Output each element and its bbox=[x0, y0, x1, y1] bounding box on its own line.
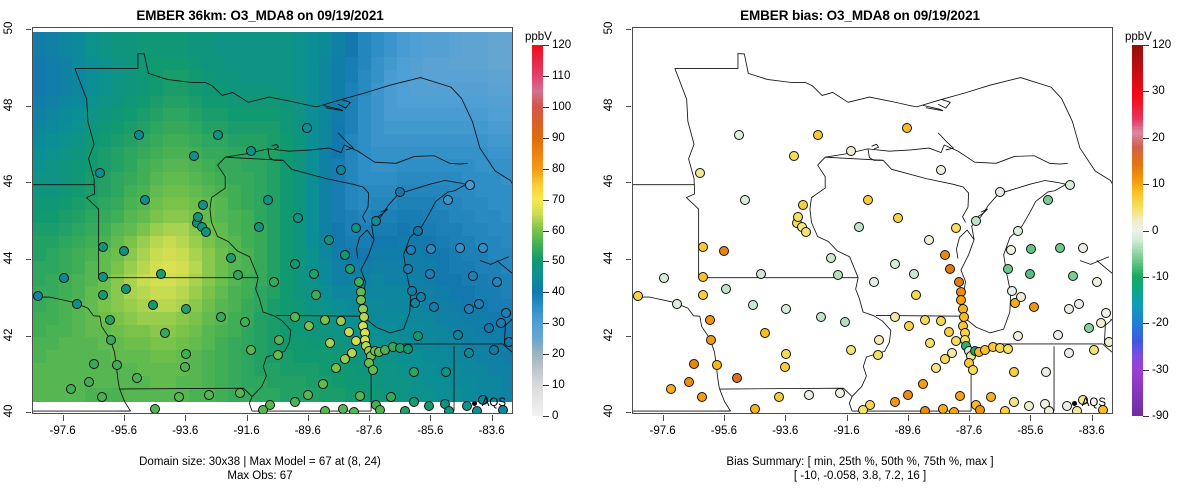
aqs-site-marker bbox=[924, 235, 934, 245]
aqs-site-marker bbox=[492, 277, 502, 287]
aqs-site-marker bbox=[441, 367, 451, 377]
aqs-site-marker bbox=[1053, 330, 1063, 340]
aqs-site-marker bbox=[302, 123, 312, 133]
aqs-site-marker bbox=[106, 335, 116, 345]
aqs-site-marker bbox=[140, 195, 150, 205]
colorbar-tick-label: 20 bbox=[552, 348, 565, 360]
aqs-site-marker bbox=[813, 130, 823, 140]
y-tick-label: 42 bbox=[603, 320, 615, 350]
panel-model-title: EMBER 36km: O3_MDA8 on 09/19/2021 bbox=[0, 8, 520, 23]
y-tick bbox=[26, 182, 31, 183]
x-tick-label: -91.6 bbox=[824, 425, 870, 437]
aqs-site-marker bbox=[1104, 337, 1113, 347]
aqs-site-marker bbox=[793, 212, 803, 222]
colorbar-tick-label: 80 bbox=[552, 163, 565, 175]
aqs-site-marker bbox=[344, 327, 354, 337]
y-tick-label: 48 bbox=[603, 90, 615, 120]
aqs-site-marker bbox=[400, 406, 410, 414]
colorbar-tick bbox=[543, 416, 549, 417]
aqs-site-marker bbox=[986, 392, 996, 402]
aqs-site-marker bbox=[403, 264, 413, 274]
aqs-site-marker bbox=[781, 304, 791, 314]
aqs-site-marker bbox=[213, 130, 223, 140]
aqs-site-marker bbox=[748, 300, 758, 310]
aqs-site-marker bbox=[311, 290, 321, 300]
aqs-site-marker bbox=[1009, 367, 1019, 377]
aqs-site-marker bbox=[846, 345, 856, 355]
colorbar-tick-label: -10 bbox=[1152, 271, 1169, 283]
aqs-site-marker bbox=[1101, 308, 1111, 318]
aqs-site-marker bbox=[409, 367, 419, 377]
aqs-site-marker bbox=[1089, 345, 1099, 355]
colorbar-tick-label: 50 bbox=[552, 255, 565, 267]
aqs-site-marker bbox=[633, 291, 643, 301]
aqs-legend: AQS bbox=[1072, 397, 1106, 409]
x-tick-label: -85.6 bbox=[1007, 425, 1053, 437]
colorbar-tick-label: 10 bbox=[1152, 178, 1165, 190]
aqs-site-marker bbox=[698, 242, 708, 252]
aqs-site-marker bbox=[1024, 401, 1034, 411]
aqs-site-marker bbox=[840, 317, 850, 327]
aqs-site-marker bbox=[1064, 304, 1074, 314]
aqs-site-marker bbox=[816, 312, 826, 322]
aqs-site-marker bbox=[336, 165, 346, 175]
aqs-site-marker bbox=[354, 277, 364, 287]
x-tick bbox=[185, 415, 186, 421]
x-tick-label: -87.6 bbox=[946, 425, 992, 437]
aqs-site-marker bbox=[697, 392, 707, 402]
aqs-site-marker bbox=[443, 195, 453, 205]
aqs-site-marker bbox=[246, 146, 256, 156]
x-tick-label: -97.6 bbox=[40, 425, 86, 437]
aqs-site-marker bbox=[413, 331, 423, 341]
x-tick bbox=[785, 415, 786, 421]
aqs-site-marker bbox=[890, 397, 900, 407]
aqs-site-marker bbox=[944, 327, 954, 337]
y-tick-label: 50 bbox=[603, 13, 615, 43]
colorbar-tick-label: 20 bbox=[1152, 132, 1165, 144]
x-tick-label: -89.6 bbox=[885, 425, 931, 437]
y-tick-label: 44 bbox=[603, 243, 615, 273]
x-tick-label: -95.6 bbox=[701, 425, 747, 437]
x-tick-label: -83.6 bbox=[469, 425, 515, 437]
aqs-site-marker bbox=[719, 246, 729, 256]
aqs-site-marker bbox=[464, 348, 474, 358]
aqs-site-marker bbox=[873, 350, 883, 360]
aqs-site-marker bbox=[918, 379, 928, 389]
aqs-site-marker bbox=[732, 373, 742, 383]
aqs-site-marker bbox=[902, 123, 912, 133]
x-tick-label: -85.6 bbox=[407, 425, 453, 437]
aqs-site-marker bbox=[406, 245, 416, 255]
aqs-site-marker bbox=[949, 407, 959, 414]
y-tick bbox=[626, 412, 631, 413]
aqs-site-marker bbox=[1074, 299, 1084, 309]
aqs-monitor-markers bbox=[33, 28, 512, 413]
aqs-site-marker bbox=[858, 405, 868, 414]
aqs-site-marker bbox=[835, 388, 845, 398]
colorbar-tick-label: 60 bbox=[552, 225, 565, 237]
aqs-site-marker bbox=[465, 180, 475, 190]
y-tick-label: 46 bbox=[603, 166, 615, 196]
aqs-site-marker bbox=[426, 244, 436, 254]
bias-colorbar-unit: ppbV bbox=[1125, 31, 1152, 43]
aqs-site-marker bbox=[66, 384, 76, 394]
x-tick-label: -93.6 bbox=[162, 425, 208, 437]
colorbar-tick-label: 30 bbox=[552, 317, 565, 329]
aqs-site-marker bbox=[951, 336, 961, 346]
panel-bias-caption-line1: Bias Summary: [ min, 25th %, 50th %, 75t… bbox=[600, 455, 1120, 469]
aqs-site-marker bbox=[801, 227, 811, 237]
aqs-site-marker bbox=[863, 195, 873, 205]
colorbar-tick bbox=[543, 261, 549, 262]
aqs-site-marker bbox=[273, 350, 283, 360]
aqs-site-marker bbox=[1068, 271, 1078, 281]
aqs-site-marker bbox=[1029, 302, 1039, 312]
aqs-site-marker bbox=[672, 299, 682, 309]
aqs-site-marker bbox=[59, 273, 69, 283]
aqs-site-marker bbox=[193, 212, 203, 222]
aqs-site-marker bbox=[774, 392, 784, 402]
aqs-site-marker bbox=[240, 317, 250, 327]
x-tick-label: -91.6 bbox=[224, 425, 270, 437]
panel-bias-title: EMBER bias: O3_MDA8 on 09/19/2021 bbox=[600, 8, 1120, 23]
aqs-site-marker bbox=[1013, 226, 1023, 236]
aqs-site-marker bbox=[409, 397, 419, 407]
aqs-site-marker bbox=[705, 315, 715, 325]
aqs-site-marker bbox=[971, 216, 981, 226]
aqs-site-marker bbox=[204, 390, 214, 400]
aqs-site-marker bbox=[290, 312, 300, 322]
y-tick-label: 40 bbox=[603, 396, 615, 426]
panel-model-caption-line1: Domain size: 30x38 | Max Model = 67 at (… bbox=[0, 455, 520, 469]
aqs-site-marker bbox=[712, 360, 722, 370]
aqs-site-marker bbox=[804, 390, 814, 400]
aqs-site-marker bbox=[181, 349, 191, 359]
colorbar-tick bbox=[543, 169, 549, 170]
aqs-site-marker bbox=[1016, 292, 1026, 302]
aqs-site-marker bbox=[1078, 243, 1088, 253]
y-tick-label: 48 bbox=[3, 90, 15, 120]
colorbar-tick bbox=[1143, 91, 1149, 92]
aqs-site-marker bbox=[869, 277, 879, 287]
x-tick bbox=[663, 415, 664, 421]
aqs-site-marker bbox=[375, 405, 385, 414]
y-tick-label: 44 bbox=[3, 243, 15, 273]
aqs-site-marker bbox=[386, 392, 396, 402]
aqs-site-marker bbox=[325, 338, 335, 348]
aqs-site-marker bbox=[233, 270, 243, 280]
aqs-site-marker bbox=[112, 360, 122, 370]
colorbar-segment bbox=[532, 414, 543, 416]
aqs-site-marker bbox=[833, 270, 843, 280]
aqs-site-marker bbox=[504, 337, 513, 347]
colorbar-tick bbox=[543, 354, 549, 355]
aqs-site-marker bbox=[33, 291, 43, 301]
aqs-site-marker bbox=[468, 271, 478, 281]
aqs-site-marker bbox=[474, 299, 484, 309]
panel-model-caption-line2: Max Obs: 67 bbox=[0, 469, 520, 483]
aqs-site-marker bbox=[84, 377, 94, 387]
aqs-site-marker bbox=[789, 151, 799, 161]
aqs-site-marker bbox=[464, 304, 474, 314]
colorbar-tick-label: 30 bbox=[1152, 85, 1165, 97]
y-tick bbox=[26, 106, 31, 107]
aqs-site-marker bbox=[659, 273, 669, 283]
aqs-site-marker bbox=[1003, 264, 1013, 274]
aqs-site-marker bbox=[995, 187, 1005, 197]
y-tick-label: 40 bbox=[3, 396, 15, 426]
panel-bias-plot-area[interactable]: AQS bbox=[632, 27, 1113, 414]
aqs-site-marker bbox=[826, 253, 836, 263]
aqs-site-marker bbox=[798, 200, 808, 210]
colorbar-tick-label: 120 bbox=[552, 39, 571, 51]
colorbar-tick bbox=[543, 107, 549, 108]
colorbar-tick bbox=[1143, 370, 1149, 371]
colorbar-tick-label: 0 bbox=[1152, 225, 1158, 237]
aqs-site-marker bbox=[331, 363, 341, 373]
colorbar-tick bbox=[543, 385, 549, 386]
aqs-site-marker bbox=[1013, 331, 1023, 341]
aqs-site-marker bbox=[1041, 367, 1051, 377]
x-tick bbox=[63, 415, 64, 421]
aqs-site-marker bbox=[72, 299, 82, 309]
colorbar-tick-label: 0 bbox=[552, 410, 558, 422]
colorbar-tick-label: 120 bbox=[1152, 39, 1171, 51]
x-tick bbox=[1030, 415, 1031, 421]
aqs-site-marker bbox=[425, 269, 435, 279]
y-tick-label: 46 bbox=[3, 166, 15, 196]
colorbar-tick bbox=[543, 323, 549, 324]
aqs-site-marker bbox=[226, 253, 236, 263]
y-tick bbox=[26, 412, 31, 413]
x-tick bbox=[430, 415, 431, 421]
aqs-site-marker bbox=[119, 246, 129, 256]
x-tick-label: -87.6 bbox=[346, 425, 392, 437]
colorbar-tick bbox=[1143, 277, 1149, 278]
aqs-site-marker bbox=[740, 195, 750, 205]
colorbar-tick-label: 40 bbox=[552, 286, 565, 298]
x-tick bbox=[308, 415, 309, 421]
aqs-site-marker bbox=[951, 223, 961, 233]
y-tick-label: 50 bbox=[3, 13, 15, 43]
aqs-site-marker bbox=[1055, 243, 1065, 253]
aqs-site-marker bbox=[666, 384, 676, 394]
figure-root: EMBER 36km: O3_MDA8 on 09/19/2021 AQS 40… bbox=[0, 0, 1200, 502]
aqs-site-marker bbox=[148, 300, 158, 310]
aqs-site-marker bbox=[909, 269, 919, 279]
aqs-site-marker bbox=[340, 354, 350, 364]
colorbar-segment bbox=[1132, 414, 1143, 416]
x-tick-label: -95.6 bbox=[101, 425, 147, 437]
aqs-site-marker bbox=[684, 377, 694, 387]
aqs-site-marker bbox=[174, 392, 184, 402]
aqs-site-marker bbox=[931, 363, 941, 373]
aqs-site-marker bbox=[189, 151, 199, 161]
aqs-site-marker bbox=[324, 235, 334, 245]
aqs-site-marker bbox=[695, 168, 705, 178]
aqs-site-marker bbox=[936, 316, 946, 326]
aqs-site-marker bbox=[254, 222, 264, 232]
aqs-site-marker bbox=[453, 330, 463, 340]
aqs-site-marker bbox=[95, 168, 105, 178]
aqs-site-marker bbox=[351, 336, 361, 346]
y-tick bbox=[626, 106, 631, 107]
aqs-site-marker bbox=[429, 302, 439, 312]
aqs-site-marker bbox=[1003, 344, 1013, 354]
colorbar-tick-label: 70 bbox=[552, 194, 565, 206]
aqs-site-marker bbox=[416, 292, 426, 302]
aqs-site-marker bbox=[893, 213, 903, 223]
x-tick bbox=[908, 415, 909, 421]
aqs-site-marker bbox=[89, 359, 99, 369]
aqs-site-marker bbox=[945, 264, 955, 274]
aqs-site-marker bbox=[1009, 397, 1019, 407]
aqs-site-marker bbox=[246, 345, 256, 355]
aqs-dot-icon bbox=[472, 401, 477, 406]
aqs-site-marker bbox=[484, 323, 494, 333]
aqs-site-marker bbox=[760, 328, 770, 338]
x-tick bbox=[847, 415, 848, 421]
aqs-site-marker bbox=[925, 338, 935, 348]
aqs-site-marker bbox=[936, 165, 946, 175]
y-tick bbox=[626, 29, 631, 30]
aqs-site-marker bbox=[501, 308, 511, 318]
colorbar-tick-label: 90 bbox=[552, 132, 565, 144]
aqs-site-marker bbox=[336, 316, 346, 326]
y-tick bbox=[626, 336, 631, 337]
aqs-site-marker bbox=[911, 290, 921, 300]
aqs-site-marker bbox=[846, 146, 856, 156]
y-tick bbox=[626, 259, 631, 260]
aqs-site-marker bbox=[706, 335, 716, 345]
bias-colorbar-gradient bbox=[1132, 45, 1143, 416]
aqs-site-marker bbox=[351, 223, 361, 233]
aqs-site-marker bbox=[98, 290, 108, 300]
aqs-site-marker bbox=[235, 388, 245, 398]
x-tick-label: -89.6 bbox=[285, 425, 331, 437]
aqs-site-marker bbox=[1043, 195, 1053, 205]
aqs-site-marker bbox=[303, 390, 313, 400]
aqs-site-marker bbox=[1064, 348, 1074, 358]
aqs-site-marker bbox=[263, 195, 273, 205]
colorbar-tick bbox=[1143, 138, 1149, 139]
colorbar-tick bbox=[1143, 45, 1149, 46]
colorbar-tick-label: -90 bbox=[1152, 410, 1169, 422]
y-tick bbox=[626, 182, 631, 183]
panel-model-plot-area[interactable]: AQS bbox=[32, 27, 513, 414]
aqs-site-marker bbox=[955, 391, 965, 401]
aqs-legend: AQS bbox=[472, 397, 506, 409]
aqs-site-marker bbox=[413, 226, 423, 236]
colorbar-tick bbox=[1143, 323, 1149, 324]
aqs-site-marker bbox=[444, 406, 454, 414]
aqs-site-marker bbox=[97, 392, 107, 402]
aqs-site-marker bbox=[150, 404, 160, 414]
aqs-site-marker bbox=[156, 269, 166, 279]
aqs-site-marker bbox=[320, 315, 330, 325]
aqs-site-marker bbox=[309, 269, 319, 279]
aqs-site-marker bbox=[478, 243, 488, 253]
aqs-site-marker bbox=[1006, 245, 1016, 255]
aqs-site-marker bbox=[874, 335, 884, 345]
aqs-site-marker bbox=[903, 390, 913, 400]
y-tick bbox=[26, 29, 31, 30]
aqs-site-marker bbox=[455, 243, 465, 253]
model-colorbar-gradient bbox=[532, 45, 543, 416]
colorbar-tick bbox=[543, 231, 549, 232]
aqs-site-marker bbox=[290, 397, 300, 407]
x-tick bbox=[1092, 415, 1093, 421]
aqs-site-marker bbox=[368, 365, 378, 375]
aqs-site-marker bbox=[890, 259, 900, 269]
aqs-site-marker bbox=[338, 404, 348, 414]
y-tick bbox=[26, 336, 31, 337]
aqs-site-marker bbox=[395, 187, 405, 197]
aqs-legend-label: AQS bbox=[482, 397, 506, 409]
colorbar-tick bbox=[543, 138, 549, 139]
aqs-site-marker bbox=[340, 250, 350, 260]
aqs-site-marker bbox=[1000, 406, 1010, 414]
aqs-site-marker bbox=[1044, 406, 1054, 414]
panel-bias: EMBER bias: O3_MDA8 on 09/19/2021 AQS 40… bbox=[600, 0, 1200, 502]
aqs-site-marker bbox=[854, 222, 864, 232]
model-colorbar-unit: ppbV bbox=[525, 31, 552, 43]
aqs-site-marker bbox=[160, 328, 170, 338]
y-tick-label: 42 bbox=[3, 320, 15, 350]
aqs-dot-icon bbox=[1072, 401, 1077, 406]
x-tick bbox=[369, 415, 370, 421]
aqs-site-marker bbox=[920, 315, 930, 325]
colorbar-tick-label: -20 bbox=[1152, 317, 1169, 329]
aqs-site-marker bbox=[181, 304, 191, 314]
aqs-site-marker bbox=[489, 345, 499, 355]
aqs-site-marker bbox=[890, 312, 900, 322]
colorbar-tick-label: 10 bbox=[552, 379, 565, 391]
aqs-site-marker bbox=[304, 321, 314, 331]
aqs-legend-label: AQS bbox=[1082, 397, 1106, 409]
x-tick bbox=[969, 415, 970, 421]
aqs-site-marker bbox=[940, 250, 950, 260]
aqs-site-marker bbox=[121, 284, 131, 294]
aqs-bias-markers bbox=[633, 28, 1112, 413]
aqs-site-marker bbox=[781, 349, 791, 359]
aqs-site-marker bbox=[734, 130, 744, 140]
colorbar-tick bbox=[1143, 416, 1149, 417]
aqs-site-marker bbox=[345, 264, 355, 274]
aqs-site-marker bbox=[698, 290, 708, 300]
aqs-site-marker bbox=[1092, 277, 1102, 287]
aqs-site-marker bbox=[689, 359, 699, 369]
x-tick-label: -83.6 bbox=[1069, 425, 1115, 437]
aqs-site-marker bbox=[975, 405, 985, 414]
x-tick-label: -93.6 bbox=[762, 425, 808, 437]
colorbar-tick bbox=[543, 292, 549, 293]
aqs-site-marker bbox=[355, 391, 365, 401]
colorbar-tick bbox=[1143, 184, 1149, 185]
aqs-site-marker bbox=[954, 277, 964, 287]
aqs-site-marker bbox=[1026, 244, 1036, 254]
x-tick-label: -97.6 bbox=[640, 425, 686, 437]
aqs-site-marker bbox=[180, 362, 190, 372]
colorbar-tick-label: -30 bbox=[1152, 364, 1169, 376]
aqs-site-marker bbox=[780, 362, 790, 372]
colorbar-tick-label: 100 bbox=[552, 101, 571, 113]
y-tick bbox=[26, 259, 31, 260]
panel-model: EMBER 36km: O3_MDA8 on 09/19/2021 AQS 40… bbox=[0, 0, 600, 502]
aqs-site-marker bbox=[349, 407, 359, 414]
x-tick bbox=[124, 415, 125, 421]
